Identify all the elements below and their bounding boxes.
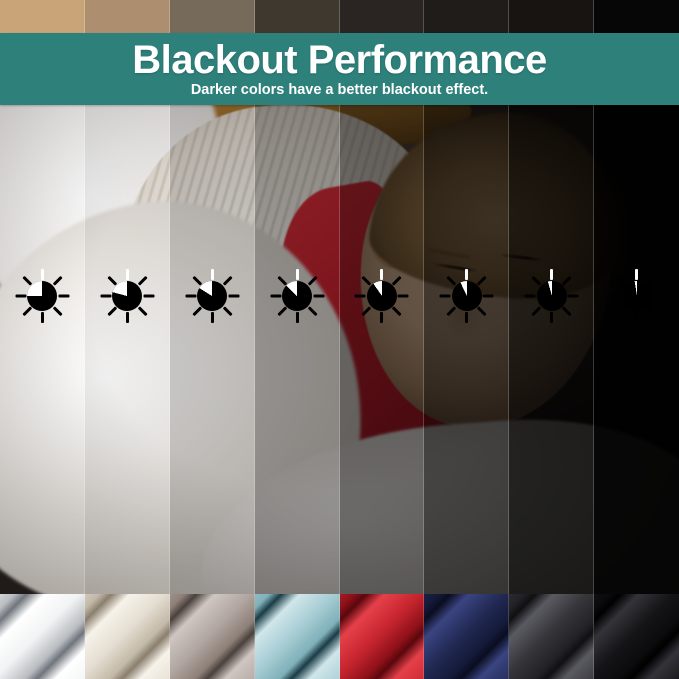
top-strip-cell-4 [255, 0, 340, 34]
brightness-sun-icon [93, 262, 161, 330]
sun-light-wedge [622, 281, 652, 311]
brightness-sun-icon [518, 262, 586, 330]
banner-title: Blackout Performance [132, 40, 547, 80]
brightness-sun-icon [603, 262, 671, 330]
blackout-performance-infographic: Blackout Performance Darker colors have … [0, 0, 679, 679]
sun-disc [197, 281, 227, 311]
fabric-swatch-ivory[interactable] [85, 594, 170, 679]
swatch-fold-sheen [170, 594, 255, 679]
brightness-icon-cell-6 [424, 262, 509, 366]
brightness-icon-cell-1 [0, 262, 85, 366]
brightness-sun-icon [263, 262, 331, 330]
banner-subtitle: Darker colors have a better blackout eff… [191, 83, 488, 98]
fabric-swatch-row [0, 594, 679, 679]
swatch-fold-sheen [255, 594, 340, 679]
sun-disc [622, 281, 652, 311]
top-strip-cell-5 [340, 0, 425, 34]
fabric-swatch-charcoal[interactable] [509, 594, 594, 679]
brightness-sun-icon [8, 262, 76, 330]
swatch-fold-sheen [340, 594, 425, 679]
fabric-swatch-black[interactable] [594, 594, 679, 679]
brightness-sun-icon [348, 262, 416, 330]
sun-disc [537, 281, 567, 311]
sun-light-wedge [282, 281, 312, 311]
top-strip-cell-6 [424, 0, 509, 34]
brightness-icon-cell-5 [340, 262, 425, 366]
sun-light-wedge [197, 281, 227, 311]
fabric-swatch-white[interactable] [0, 594, 85, 679]
swatch-fold-sheen [424, 594, 509, 679]
top-strip-cell-1 [0, 0, 85, 34]
top-strip-cell-8 [594, 0, 679, 34]
brightness-icon-cell-8 [594, 262, 679, 366]
brightness-icon-cell-2 [85, 262, 170, 366]
sun-disc [367, 281, 397, 311]
swatch-fold-sheen [509, 594, 594, 679]
brightness-icon-cell-3 [170, 262, 255, 366]
sun-disc [112, 281, 142, 311]
top-strip-cell-2 [85, 0, 170, 34]
top-strip-cell-3 [170, 0, 255, 34]
fabric-swatch-navy[interactable] [424, 594, 509, 679]
sun-disc [27, 281, 57, 311]
sun-light-wedge [367, 281, 397, 311]
sun-disc [282, 281, 312, 311]
brightness-icon-row [0, 34, 679, 594]
swatch-fold-sheen [594, 594, 679, 679]
fabric-swatch-taupe[interactable] [170, 594, 255, 679]
swatch-fold-sheen [85, 594, 170, 679]
sun-disc [452, 281, 482, 311]
sun-light-wedge [112, 281, 142, 311]
top-strip-cell-7 [509, 0, 594, 34]
fabric-swatch-red[interactable] [340, 594, 425, 679]
swatch-fold-sheen [0, 594, 85, 679]
brightness-sun-icon [433, 262, 501, 330]
sun-light-wedge [452, 281, 482, 311]
header-banner: Blackout Performance Darker colors have … [0, 33, 679, 105]
brightness-icon-cell-7 [509, 262, 594, 366]
top-fabric-edge-strip [0, 0, 679, 34]
sun-light-wedge [537, 281, 567, 311]
sun-light-wedge [27, 281, 57, 311]
brightness-icon-cell-4 [255, 262, 340, 366]
brightness-sun-icon [178, 262, 246, 330]
fabric-swatch-aqua[interactable] [255, 594, 340, 679]
